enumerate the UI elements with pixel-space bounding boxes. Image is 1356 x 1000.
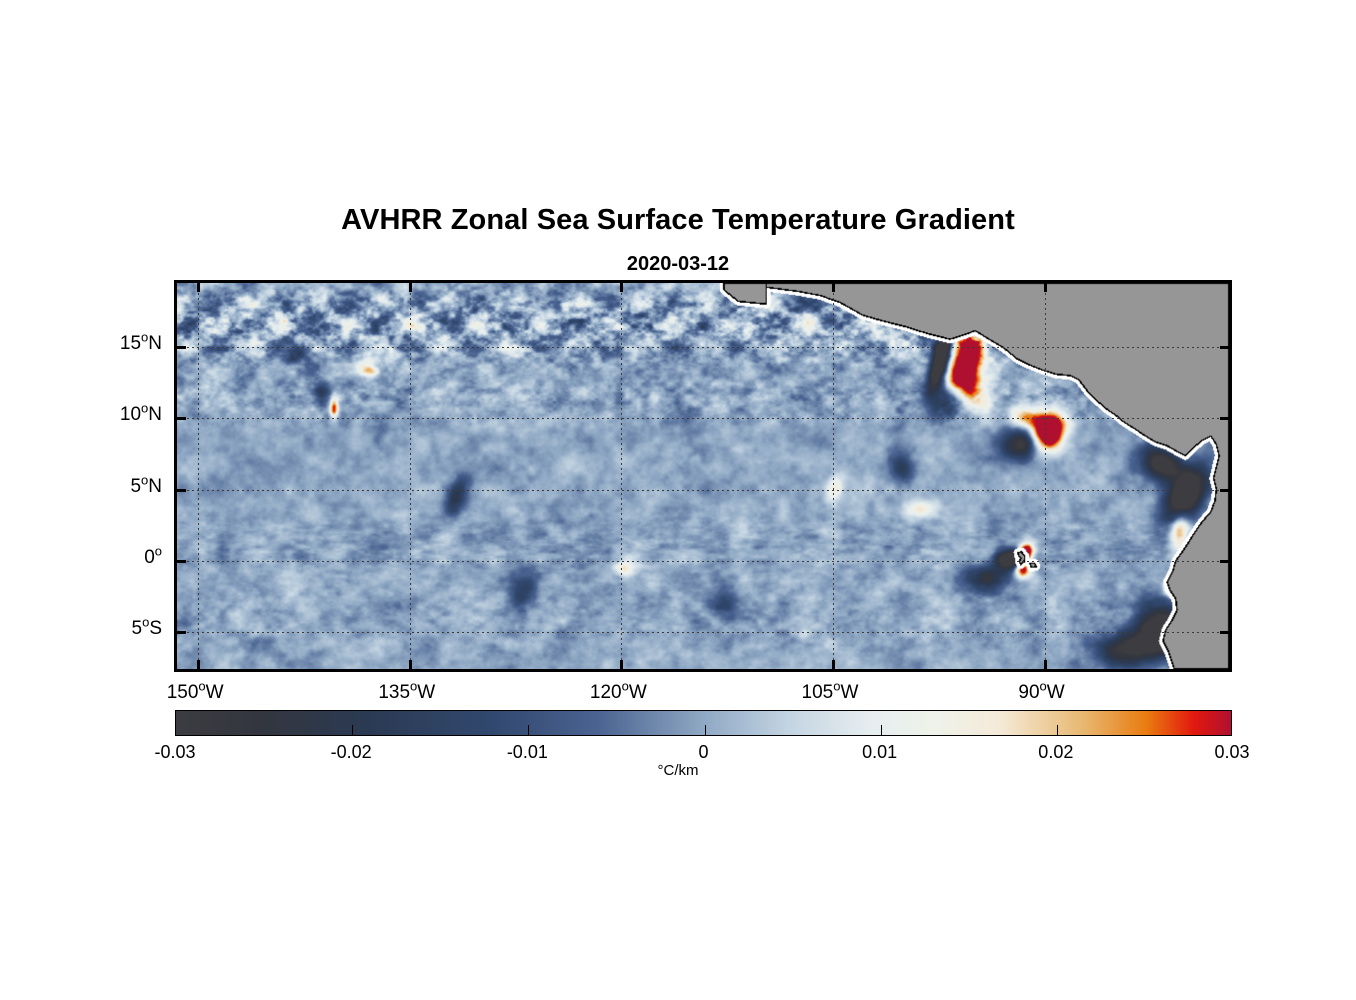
map-axes — [174, 280, 1232, 672]
degree-symbol: o — [141, 401, 148, 416]
axis-tick — [1220, 346, 1229, 349]
axis-tick — [177, 346, 186, 349]
axis-tick — [409, 660, 412, 669]
axis-tick — [177, 417, 186, 420]
axis-tick — [197, 283, 200, 292]
axis-tick — [1044, 283, 1047, 292]
colorbar-tick — [1057, 725, 1058, 735]
axis-tick — [1220, 417, 1229, 420]
colorbar-gradient — [176, 711, 1231, 735]
x-tick-label: 105oW — [802, 682, 859, 704]
degree-symbol: o — [198, 679, 205, 694]
colorbar-tick — [352, 725, 353, 735]
x-tick-label: 150oW — [167, 682, 224, 704]
colorbar-tick-label: -0.03 — [154, 742, 195, 763]
y-tick-label: 5oS — [132, 618, 163, 640]
x-tick-label: 90oW — [1018, 682, 1064, 704]
axis-tick — [1220, 489, 1229, 492]
colorbar-tick-label: 0.01 — [862, 742, 897, 763]
degree-symbol: o — [1040, 679, 1047, 694]
colorbar-unit-label: °C/km — [0, 762, 1356, 779]
axis-tick — [1220, 560, 1229, 563]
x-tick-label: 135oW — [378, 682, 435, 704]
axis-tick — [177, 631, 186, 634]
figure-root: AVHRR Zonal Sea Surface Temperature Grad… — [0, 0, 1356, 1000]
axis-tick — [832, 660, 835, 669]
y-tick-label: 10oN — [120, 404, 162, 426]
colorbar-tick-label: 0 — [698, 742, 708, 763]
axis-tick — [832, 283, 835, 292]
axis-tick — [620, 660, 623, 669]
y-tick-label: 5oN — [130, 476, 162, 498]
axis-tick — [177, 489, 186, 492]
axis-tick — [1220, 631, 1229, 634]
page-title: AVHRR Zonal Sea Surface Temperature Grad… — [0, 204, 1356, 237]
colorbar — [175, 710, 1232, 736]
colorbar-tick-label: 0.03 — [1214, 742, 1249, 763]
degree-symbol: o — [142, 615, 149, 630]
y-tick-label: 0o — [144, 547, 162, 569]
axis-tick — [1044, 660, 1047, 669]
degree-symbol: o — [155, 544, 162, 559]
y-tick-label: 15oN — [120, 333, 162, 355]
degree-symbol: o — [141, 330, 148, 345]
degree-symbol: o — [833, 679, 840, 694]
degree-symbol: o — [622, 679, 629, 694]
axis-tick — [620, 283, 623, 292]
axis-tick — [177, 560, 186, 563]
x-tick-label: 120oW — [590, 682, 647, 704]
axis-tick — [409, 283, 412, 292]
axis-tick — [197, 660, 200, 669]
colorbar-tick — [528, 725, 529, 735]
colorbar-tick — [705, 725, 706, 735]
colorbar-tick-label: 0.02 — [1038, 742, 1073, 763]
degree-symbol: o — [141, 472, 148, 487]
colorbar-tick-label: -0.02 — [331, 742, 372, 763]
figure-subtitle: 2020-03-12 — [0, 253, 1356, 276]
colorbar-tick-label: -0.01 — [507, 742, 548, 763]
colorbar-tick — [881, 725, 882, 735]
sst-gradient-heatmap — [177, 283, 1229, 669]
degree-symbol: o — [410, 679, 417, 694]
